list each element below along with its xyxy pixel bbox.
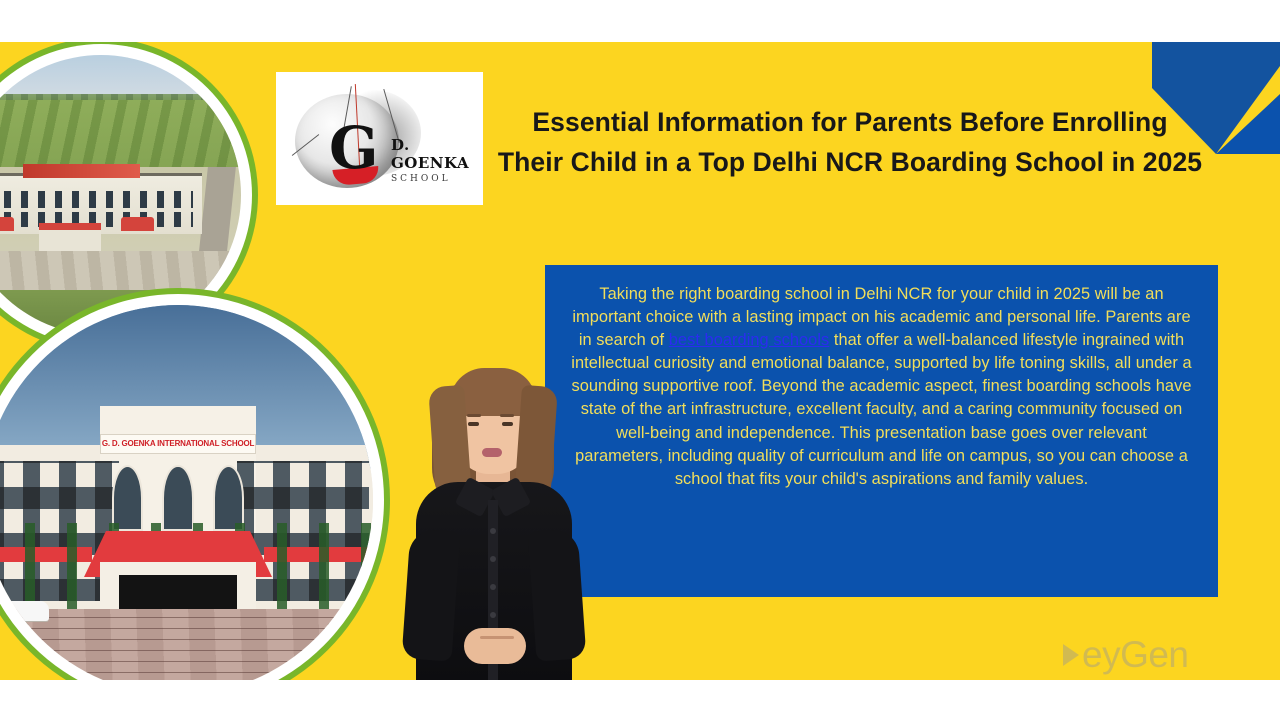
slide-canvas: G. D. GOENKA INTERNATIONAL SCHOOL (0, 42, 1280, 680)
best-boarding-schools-link[interactable]: best boarding schools (669, 331, 830, 349)
school-logo-card: G D. GOENKA SCHOOL (276, 72, 483, 205)
facade-signboard-text: G. D. GOENKA INTERNATIONAL SCHOOL (102, 439, 254, 448)
slide-title: Essential Information for Parents Before… (470, 102, 1230, 182)
slide-title-line-2: Their Child in a Top Delhi NCR Boarding … (470, 142, 1230, 182)
photo-circle-school-facade: G. D. GOENKA INTERNATIONAL SCHOOL (0, 300, 378, 680)
parked-car (3, 601, 50, 621)
photo-circle-aerial-campus (0, 50, 246, 340)
body-paragraph: Taking the right boarding school in Delh… (571, 283, 1192, 491)
presenter-avatar (398, 360, 588, 680)
body-text-panel: Taking the right boarding school in Delh… (545, 265, 1218, 597)
heygen-watermark: eyGen (1063, 634, 1189, 676)
logo-letter-g: G (329, 122, 379, 174)
avatar-hands (464, 628, 526, 664)
facade-signboard: G. D. GOENKA INTERNATIONAL SCHOOL (100, 434, 256, 454)
slide-title-line-1: Essential Information for Parents Before… (470, 102, 1230, 142)
logo-brand-subtitle: SCHOOL (391, 174, 472, 184)
watermark-text: eyGen (1082, 634, 1189, 676)
video-slide-frame: G. D. GOENKA INTERNATIONAL SCHOOL (0, 0, 1280, 720)
aerial-campus-image (0, 55, 241, 335)
body-text-part-2: that offer a well-balanced lifestyle ing… (571, 331, 1191, 488)
logo-brand-name: D. GOENKA (391, 136, 472, 172)
play-triangle-icon (1063, 644, 1079, 666)
school-facade-image: G. D. GOENKA INTERNATIONAL SCHOOL (0, 305, 373, 680)
